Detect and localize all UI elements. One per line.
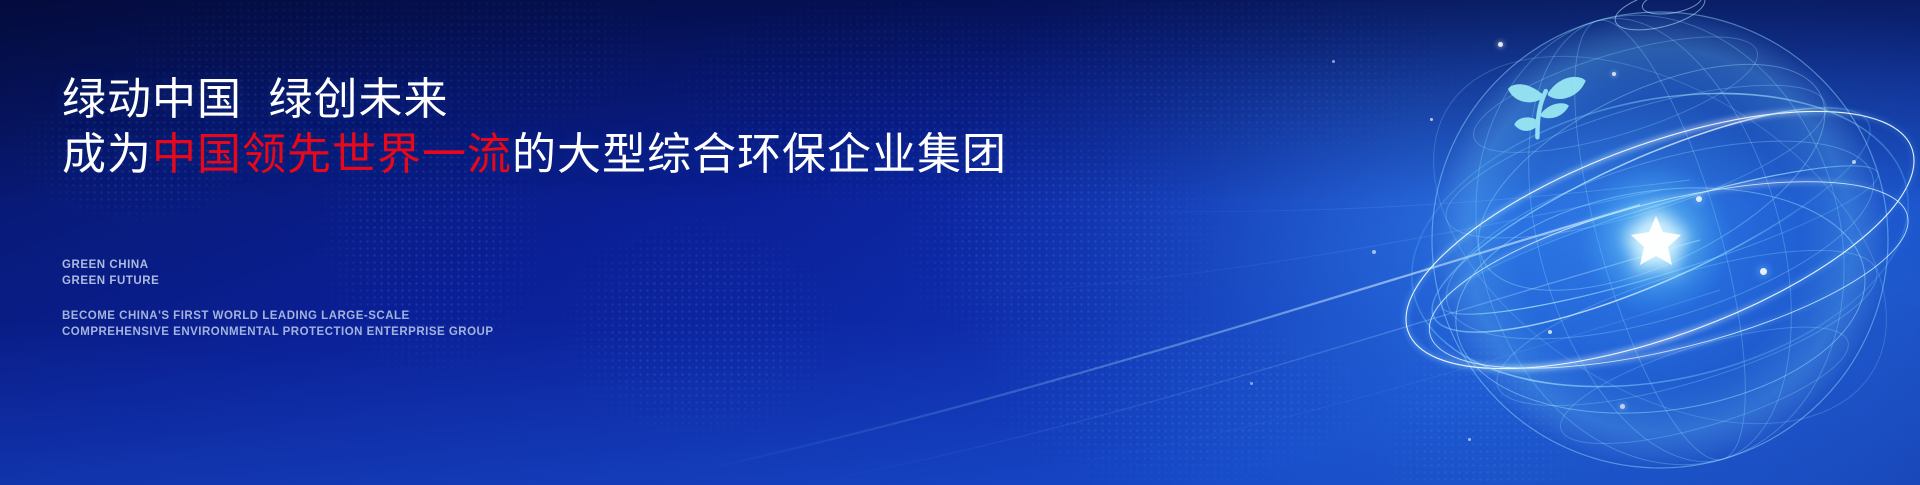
headline-line-1: 绿动中国 绿创未来 xyxy=(62,72,1062,127)
headline-prefix: 成为 xyxy=(62,130,152,179)
subtitle-long-line-2: COMPREHENSIVE ENVIRONMENTAL PROTECTION E… xyxy=(62,325,494,341)
subtitle-short-line-2: GREEN FUTURE xyxy=(62,274,159,290)
headline-block: 绿动中国 绿创未来 成为中国领先世界一流的大型综合环保企业集团 xyxy=(62,72,1062,183)
subtitle-long: BECOME CHINA'S FIRST WORLD LEADING LARGE… xyxy=(62,309,494,341)
hero-banner: 绿动中国 绿创未来 成为中国领先世界一流的大型综合环保企业集团 GREEN CH… xyxy=(0,0,1920,485)
subtitle-short-line-1: GREEN CHINA xyxy=(62,258,159,274)
headline-suffix: 的大型综合环保企业集团 xyxy=(512,130,1007,179)
subtitle-short: GREEN CHINA GREEN FUTURE xyxy=(62,258,159,290)
headline-line-2: 成为中国领先世界一流的大型综合环保企业集团 xyxy=(62,127,1062,182)
subtitle-long-line-1: BECOME CHINA'S FIRST WORLD LEADING LARGE… xyxy=(62,309,494,325)
headline-highlight: 中国领先世界一流 xyxy=(152,130,512,179)
